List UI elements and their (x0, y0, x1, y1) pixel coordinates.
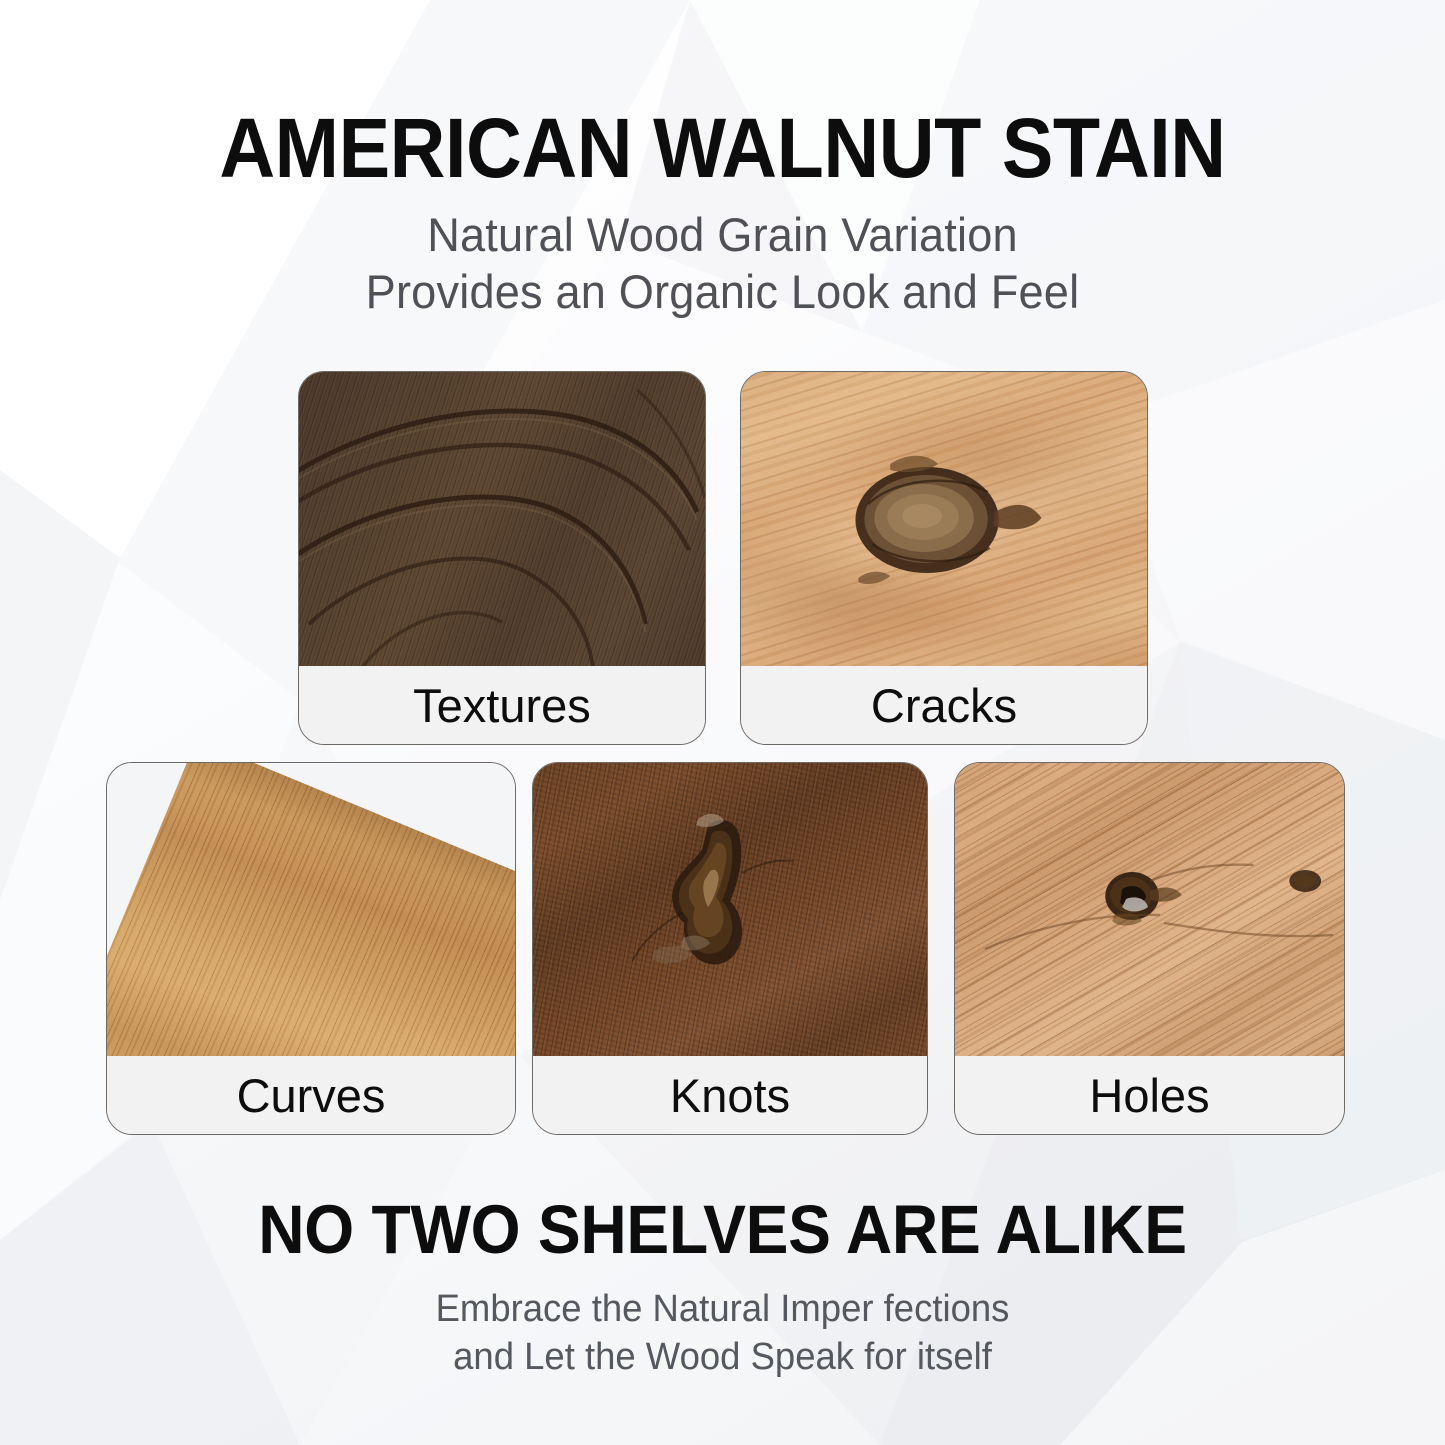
feature-card-holes[interactable]: Holes (954, 762, 1345, 1135)
feature-card-knots[interactable]: Knots (532, 762, 928, 1135)
card-image-cracks (741, 372, 1147, 668)
card-image-knots (533, 763, 927, 1058)
page-subtitle-line-1: Natural Wood Grain Variation (29, 206, 1416, 263)
infographic-page: AMERICAN WALNUT STAIN Natural Wood Grain… (0, 0, 1445, 1445)
card-label-curves: Curves (237, 1072, 386, 1119)
wood-texture-copper-tan-oak (955, 763, 1344, 1058)
card-caption-holes: Holes (955, 1056, 1344, 1134)
footer-subtitle: Embrace the Natural Imper fections and L… (29, 1285, 1416, 1381)
wood-texture-dark-espresso (299, 372, 705, 668)
card-label-cracks: Cracks (871, 682, 1017, 729)
wood-texture-pale-honey-birch (741, 372, 1147, 668)
card-caption-textures: Textures (299, 666, 705, 744)
feature-card-textures[interactable]: Textures (298, 371, 706, 745)
page-subtitle-line-2: Provides an Organic Look and Feel (29, 263, 1416, 320)
card-image-curves (107, 763, 515, 1058)
page-subtitle: Natural Wood Grain Variation Provides an… (29, 206, 1416, 320)
footer-subtitle-line-2: and Let the Wood Speak for itself (29, 1333, 1416, 1381)
card-label-holes: Holes (1089, 1072, 1209, 1119)
feature-card-curves[interactable]: Curves (106, 762, 516, 1135)
header-block: AMERICAN WALNUT STAIN Natural Wood Grain… (0, 104, 1445, 320)
card-caption-cracks: Cracks (741, 666, 1147, 744)
wood-texture-golden-plank-edge (107, 763, 515, 1058)
feature-card-cracks[interactable]: Cracks (740, 371, 1148, 745)
card-caption-knots: Knots (533, 1056, 927, 1134)
card-label-knots: Knots (670, 1072, 790, 1119)
card-label-textures: Textures (413, 682, 591, 729)
footer-subtitle-line-1: Embrace the Natural Imper fections (29, 1285, 1416, 1333)
card-caption-curves: Curves (107, 1056, 515, 1134)
card-image-holes (955, 763, 1344, 1058)
footer-title: NO TWO SHELVES ARE ALIKE (51, 1193, 1395, 1267)
page-title: AMERICAN WALNUT STAIN (58, 104, 1387, 192)
wood-texture-reddish-chocolate-walnut (533, 763, 927, 1058)
footer-block: NO TWO SHELVES ARE ALIKE Embrace the Nat… (0, 1193, 1445, 1381)
card-image-textures (299, 372, 705, 668)
